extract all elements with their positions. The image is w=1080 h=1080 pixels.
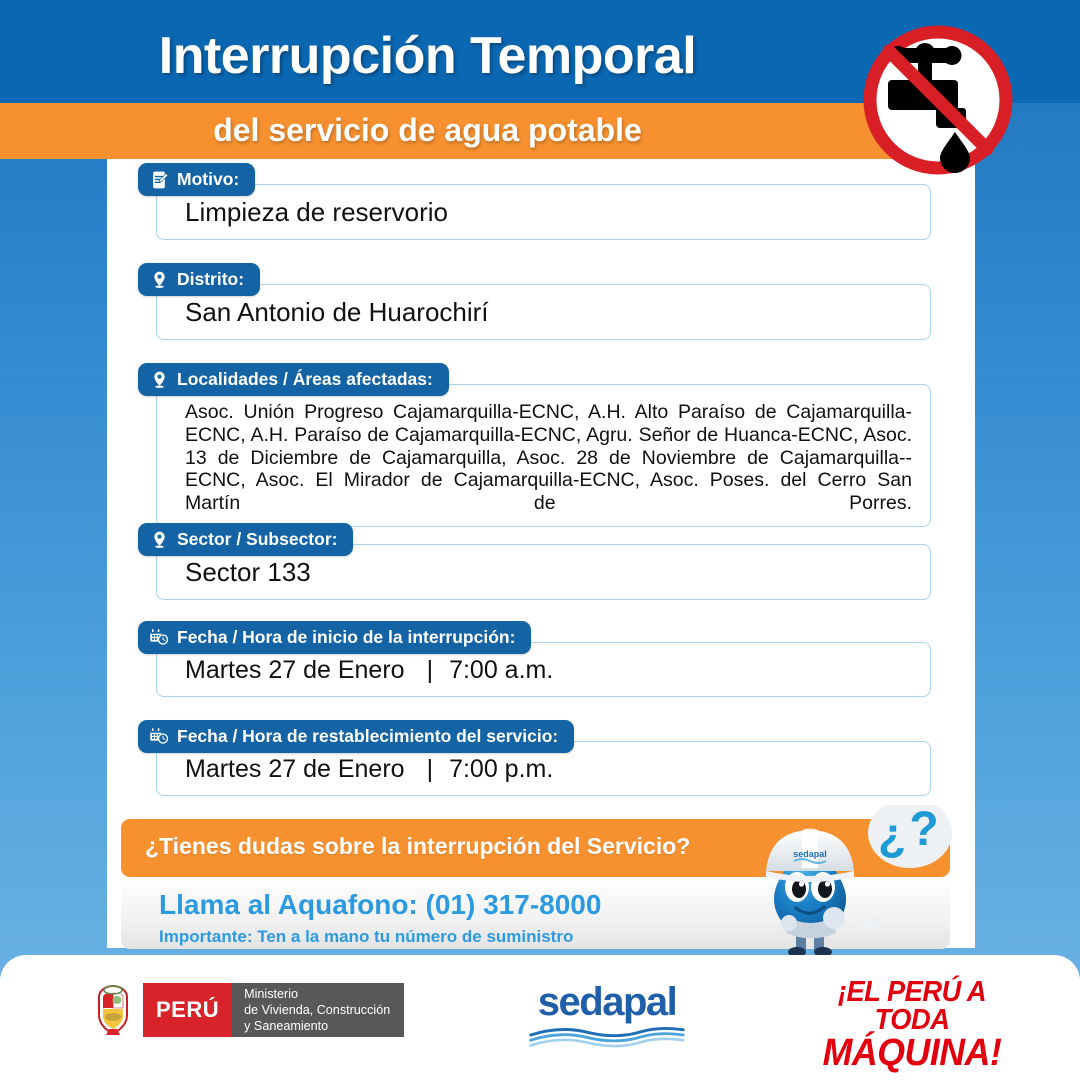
water-waves-icon: [517, 1022, 697, 1048]
sedapal-water-drop-mascot-icon: ¿ ? sedapal: [752, 805, 957, 960]
field-label-motivo: Motivo:: [138, 163, 255, 196]
field-label-localidades: Localidades / Áreas afectadas:: [138, 363, 449, 396]
svg-text:sedapal: sedapal: [793, 849, 827, 859]
field-value-box-distrito: San Antonio de Huarochirí: [156, 284, 931, 340]
page-subtitle: del servicio de agua potable: [0, 112, 855, 149]
footer-bar: PERÚ Ministerio de Vivienda, Construcció…: [0, 955, 1080, 1080]
slogan-line1: ¡EL PERÚ A TODA: [818, 979, 1006, 1035]
slogan-line2: MÁQUINA!: [818, 1035, 1006, 1071]
ministry-logo: PERÚ Ministerio de Vivienda, Construcció…: [91, 983, 404, 1037]
sedapal-wordmark: sedapal: [517, 982, 697, 1022]
value-separator: |: [405, 755, 450, 784]
end-date: Martes 27 de Enero: [185, 755, 405, 784]
value-separator: |: [405, 656, 450, 685]
field-label-text: Fecha / Hora de restablecimiento del ser…: [177, 726, 558, 747]
field-value-fecha-restablecimiento: Martes 27 de Enero|7:00 p.m.: [185, 755, 912, 784]
field-fecha-inicio: Fecha / Hora de inicio de la interrupció…: [107, 621, 975, 697]
field-localidades: Localidades / Áreas afectadas: Asoc. Uni…: [107, 363, 975, 527]
field-label-text: Distrito:: [177, 269, 244, 290]
map-pin-icon: [149, 270, 169, 290]
field-label-text: Motivo:: [177, 169, 239, 190]
ministry-line2: de Vivienda, Construcción: [244, 1002, 390, 1018]
field-label-sector: Sector / Subsector:: [138, 523, 353, 556]
sedapal-logo: sedapal: [517, 982, 697, 1048]
field-label-text: Sector / Subsector:: [177, 529, 337, 550]
field-value-motivo: Limpieza de reservorio: [185, 198, 912, 228]
ministry-name: Ministerio de Vivienda, Construcción y S…: [232, 983, 404, 1037]
svg-text:¿: ¿: [878, 808, 906, 860]
peru-slogan: ¡EL PERÚ A TODA MÁQUINA!: [812, 979, 1012, 1071]
field-value-box-motivo: Limpieza de reservorio: [156, 184, 931, 240]
field-label-distrito: Distrito:: [138, 263, 260, 296]
field-label-text: Fecha / Hora de inicio de la interrupció…: [177, 627, 515, 648]
calendar-clock-icon: [149, 628, 169, 648]
field-value-fecha-inicio: Martes 27 de Enero|7:00 a.m.: [185, 656, 912, 685]
start-time: 7:00 a.m.: [449, 656, 553, 685]
field-value-distrito: San Antonio de Huarochirí: [185, 298, 912, 328]
field-label-text: Localidades / Áreas afectadas:: [177, 369, 433, 390]
field-distrito: Distrito: San Antonio de Huarochirí: [107, 263, 975, 340]
field-value-sector: Sector 133: [185, 558, 912, 588]
field-label-fecha-restablecimiento: Fecha / Hora de restablecimiento del ser…: [138, 720, 574, 753]
page-title: Interrupción Temporal: [0, 26, 855, 86]
ministry-line3: y Saneamiento: [244, 1018, 390, 1034]
aquafono-note: Importante: Ten a la mano tu número de s…: [159, 927, 573, 947]
start-date: Martes 27 de Enero: [185, 656, 405, 685]
field-sector: Sector / Subsector: Sector 133: [107, 523, 975, 600]
poster-canvas: Interrupción Temporal del servicio de ag…: [0, 0, 1080, 1080]
field-value-box-localidades: Asoc. Unión Progreso Cajamarquilla-ECNC,…: [156, 384, 931, 527]
calendar-clock-icon: [149, 727, 169, 747]
no-water-faucet-icon: [858, 20, 1018, 180]
map-pin-icon: [149, 370, 169, 390]
svg-text:?: ?: [909, 805, 938, 856]
field-label-fecha-inicio: Fecha / Hora de inicio de la interrupció…: [138, 621, 531, 654]
field-value-localidades: Asoc. Unión Progreso Cajamarquilla-ECNC,…: [185, 401, 912, 515]
ministry-line1: Ministerio: [244, 986, 390, 1002]
question-text: ¿Tienes dudas sobre la interrupción del …: [145, 833, 690, 860]
field-motivo: Motivo: Limpieza de reservorio: [107, 163, 975, 240]
end-time: 7:00 p.m.: [449, 755, 553, 784]
peru-coat-of-arms-icon: [91, 983, 135, 1037]
field-fecha-restablecimiento: Fecha / Hora de restablecimiento del ser…: [107, 720, 975, 796]
clipboard-edit-icon: [149, 170, 169, 190]
aquafono-phone[interactable]: Llama al Aquafono: (01) 317-8000: [159, 889, 601, 921]
map-pin-icon: [149, 530, 169, 550]
ministry-country: PERÚ: [143, 983, 232, 1037]
